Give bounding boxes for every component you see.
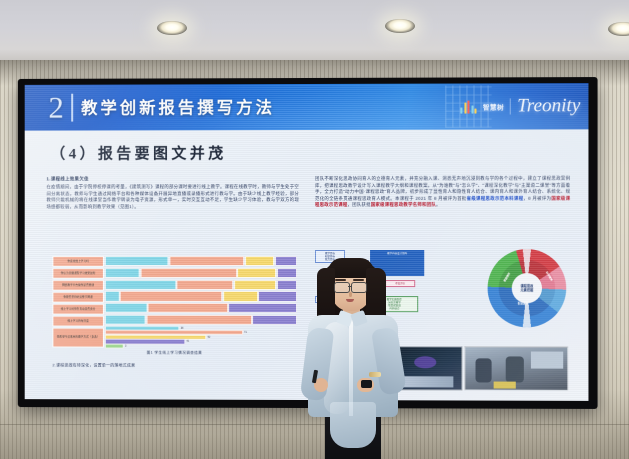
chart-segment [169,256,244,266]
chart-value-label: 52 [208,336,211,339]
watch-icon [369,372,381,377]
chart-multi-row: 41 [105,340,297,344]
chart-segment [223,291,258,301]
logo-divider [510,98,511,114]
donut-center-label: 课程思政元素挖掘 [512,273,542,303]
chart-category: 线上学习时师生互动是否充分 [52,304,104,315]
chart-row [105,268,297,278]
chart-category: 你认为直播课程学习效果如何 [52,268,104,278]
ceiling-light-icon [157,21,187,35]
chart-value-label: 3 [125,344,126,347]
right-mid-text: ，8 月被评为 [523,196,551,201]
left-heading: 1.课程线上效果欠佳 [46,176,299,182]
chart-row [105,314,297,325]
left-tail-text: 2.课程思政有待深化，设置单一的落地式成果 [52,362,135,368]
chart-segment [105,279,176,289]
chart-segment [277,279,297,289]
chart-segment [228,303,297,313]
chart-category: 你希望今后采用的教学方式（多选） [52,328,104,348]
highlight-one: 省级课程思政示范本科课程 [467,196,524,201]
glasses-icon [351,282,367,293]
chart-bars: 38 71 52 [104,256,297,348]
nose [349,292,352,297]
lecture-room-scene: 2 教学创新报告撰写方法 智慧树 Treonity [0,0,629,459]
brand-bars-icon [461,100,477,113]
header-divider [71,94,72,122]
photo-shape [494,382,516,389]
chart-value-label: 71 [244,331,247,334]
eyebrow-left [335,279,346,281]
chart-segment [105,343,124,348]
chart-segment [105,256,169,266]
presenter-person [300,252,406,459]
photo-shape [530,352,563,369]
chart-caption: 图1 学生线上学习情况调查结果 [52,350,297,356]
chart-category: 你能否坚持听完整节网课 [52,292,104,303]
chart-segment [177,279,234,289]
glasses-icon [334,282,350,293]
chart-category: 线上学习的专注度 [52,316,104,327]
slide-header-title: 教学创新报告撰写方法 [81,94,275,118]
chart-segment [120,291,222,301]
photo-shape [414,356,435,368]
chart-segment [148,303,228,313]
chart-multi-row: 3 [105,344,297,348]
right-mid-text-2: ，团队获批 [348,202,371,207]
photo-thumbnail [464,346,568,390]
brand-name-en: Treonity [517,95,580,117]
chart-value-label: 41 [186,340,189,343]
shirt-placket [349,318,353,416]
chart-row [105,291,297,301]
chart-segment [277,268,297,278]
chart-segment [105,303,148,313]
chart-segment [252,315,297,325]
slide-subtitle: （4）报告要图文并茂 [50,142,226,163]
chart-segment [146,315,252,325]
chart-segment [105,291,120,301]
photo-shape [506,357,524,383]
chart-segment [275,256,297,266]
presenter-clicker-icon [361,380,372,388]
left-column: 1.课程线上效果欠佳 在疫情期间，由于学院停校停课的考量，《建筑测写》课程的部分… [46,176,299,394]
chart-segment [105,314,146,324]
brand-name-zh: 智慧树 [483,101,504,111]
chart-segment [258,291,297,301]
chart-category: 网络教学平台操作是否便捷 [52,280,104,291]
highlight-three: 国家级课程思政教学名师和团队 [371,202,436,207]
donut-segment-label: 职业素养 [518,301,528,305]
left-body-text: 在疫情期间，由于学院停校停课的考量，《建筑测写》课程的部分课时要进行线上教学。课… [46,184,299,211]
ceiling-light-icon [385,19,415,33]
ceiling [0,0,629,66]
eyebrow-right [353,279,364,281]
chart-segment [105,268,140,278]
chart-segment [140,268,237,278]
header-logos: 智慧树 Treonity [461,89,581,123]
chart-segment [238,268,277,278]
chart-segment [234,279,276,289]
chart-row-multiselect: 38 71 52 [105,326,297,348]
photo-shape [475,358,491,382]
chart-segment [245,256,274,266]
chart-row [105,303,297,313]
right-body-text: 团队不断深化思政协同育人的立德育人元素，并充分融入课、洞悉无声地沉浸到教与学的各… [315,176,570,209]
section-number: 2 [48,86,63,130]
slide-header: 2 教学创新报告撰写方法 智慧树 Treonity [25,83,589,131]
right-suffix: 。 [436,202,441,207]
chart-row [105,279,297,289]
glasses-bridge [348,286,351,287]
chart-category-labels: 你喜欢线上学习吗 你认为直播课程学习效果如何 网络教学平台操作是否便捷 你能否坚… [52,256,104,348]
chart-row [105,256,297,266]
chart-plot-area: 你喜欢线上学习吗 你认为直播课程学习效果如何 网络教学平台操作是否便捷 你能否坚… [52,256,297,348]
chart-category: 你喜欢线上学习吗 [52,256,104,266]
survey-chart: 你喜欢线上学习吗 你认为直播课程学习效果如何 网络教学平台操作是否便捷 你能否坚… [52,256,297,361]
ideological-elements-donut-chart: 课程思政元素挖掘 家国情怀 科学精神 职业素养 [488,249,567,327]
